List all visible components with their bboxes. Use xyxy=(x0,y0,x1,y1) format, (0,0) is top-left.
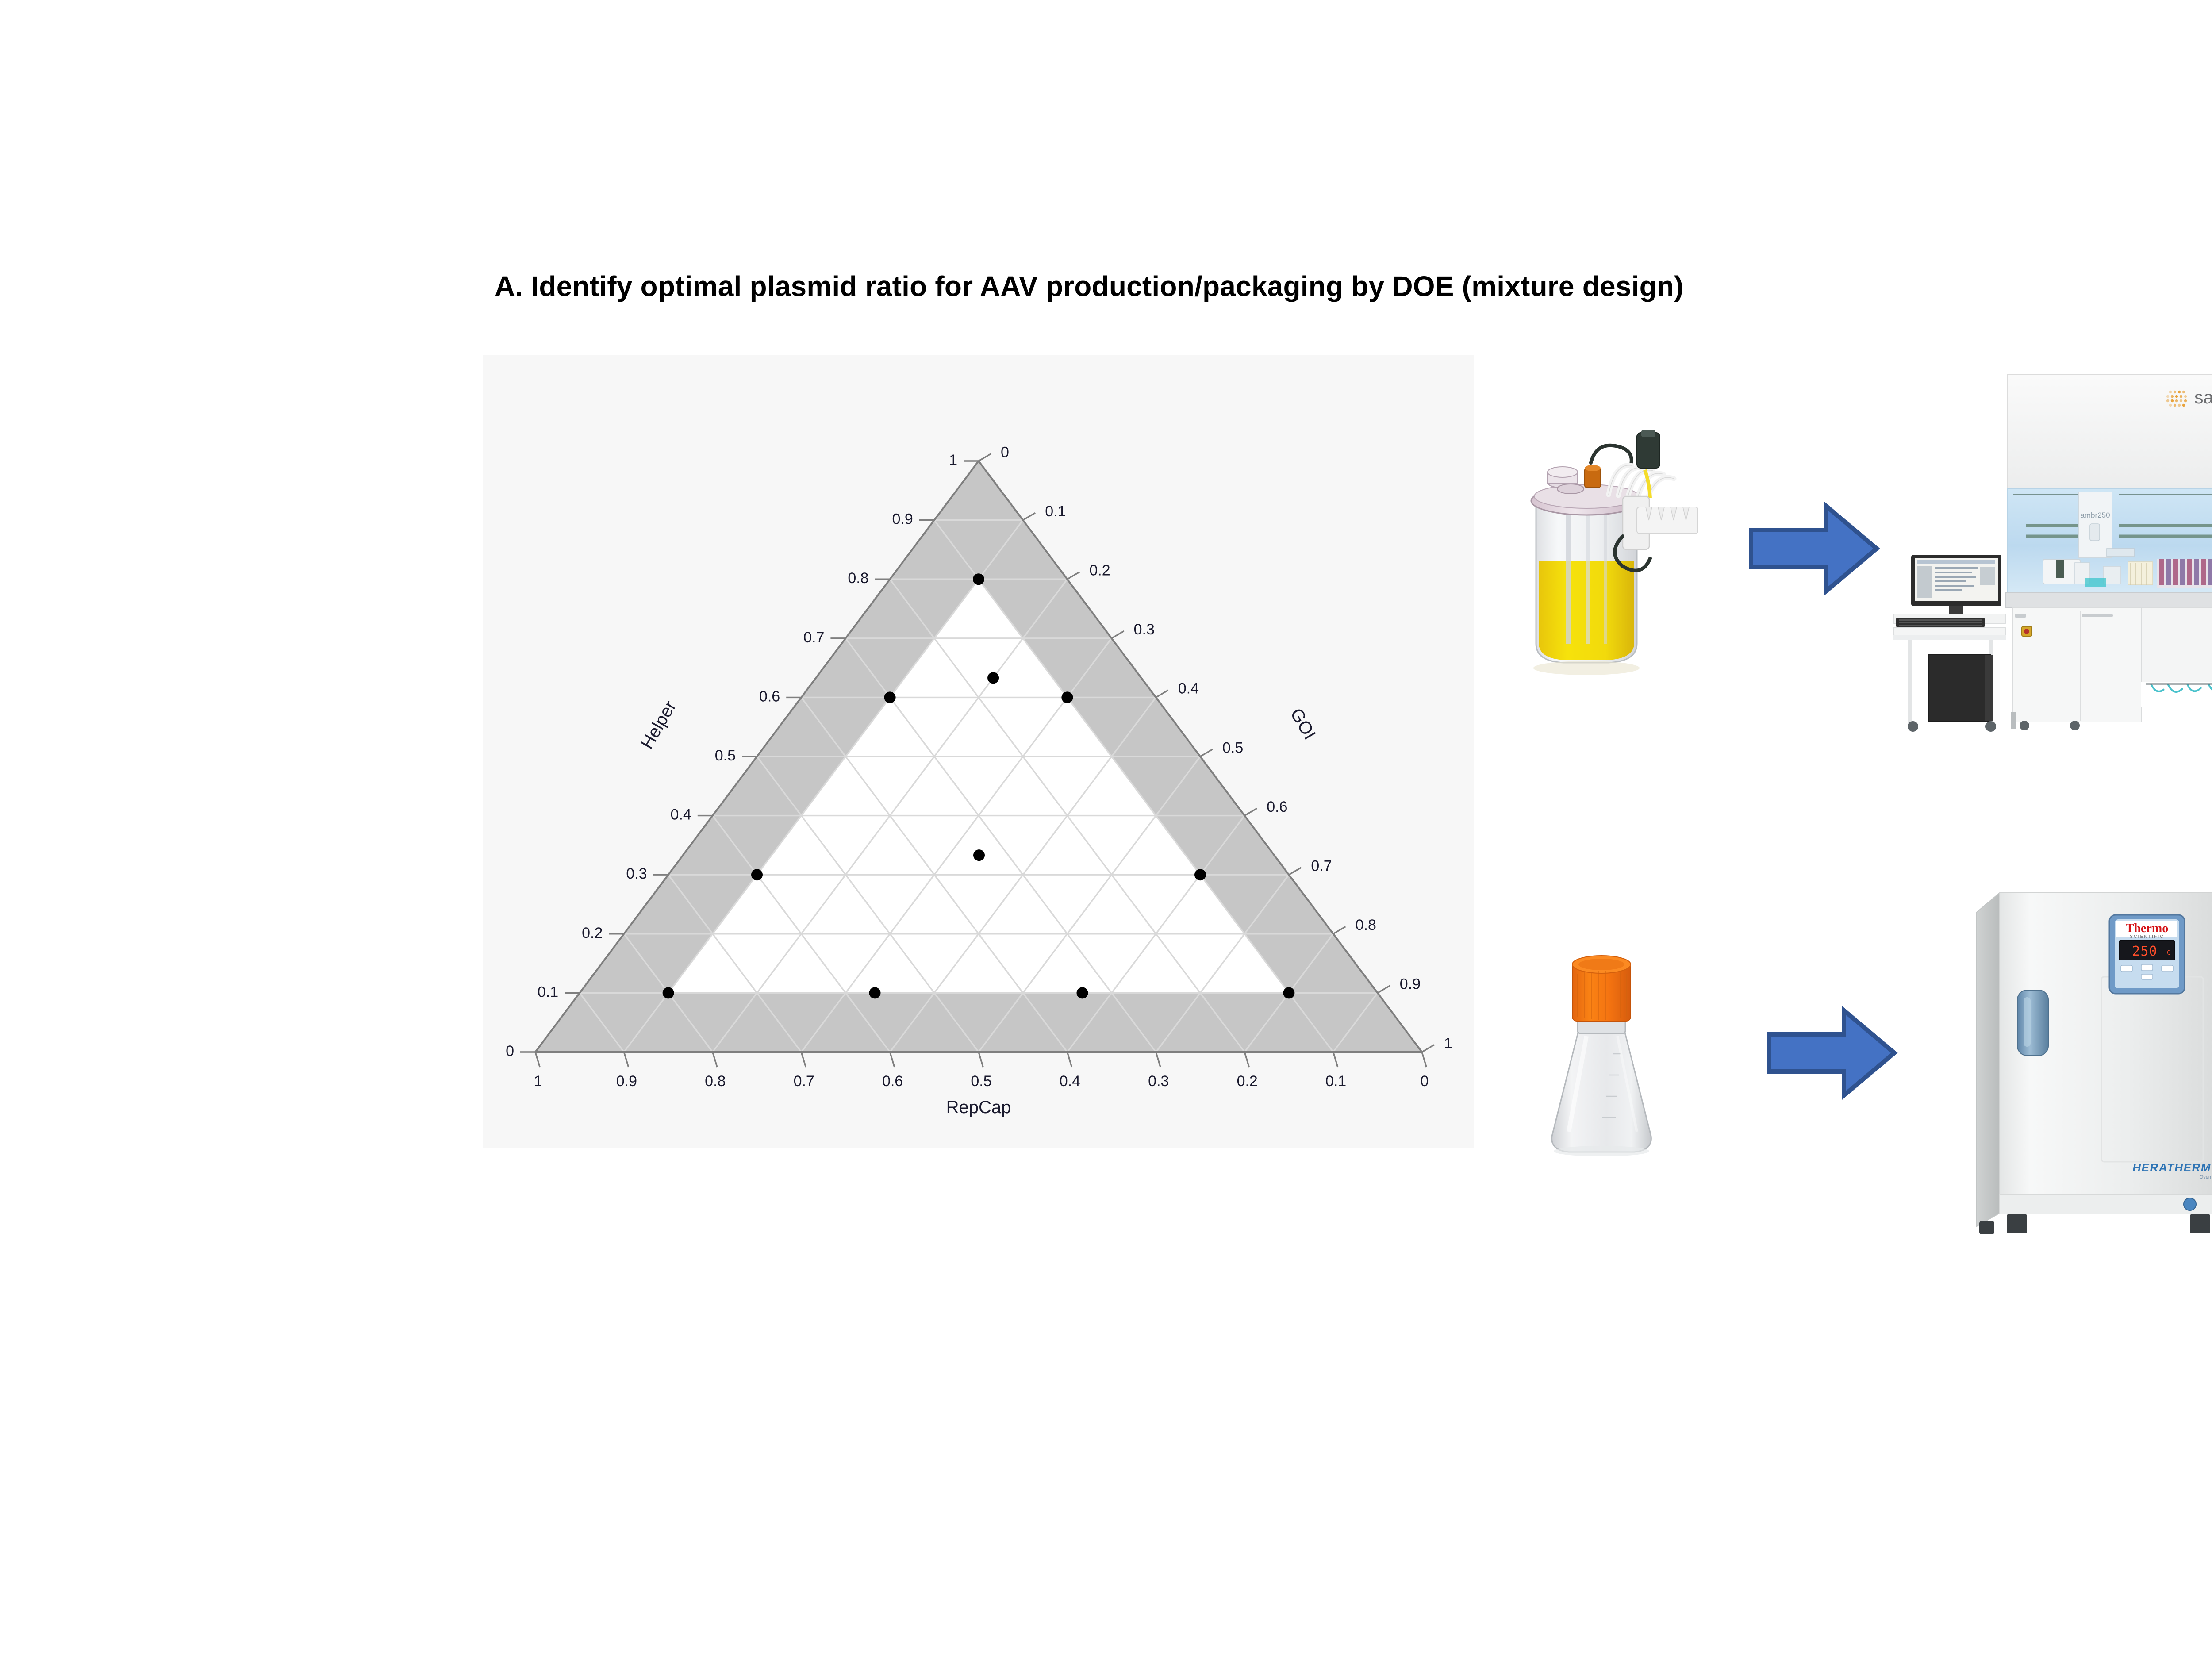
sartorius-ambr-250-system-image: sarto ambr250 xyxy=(1880,372,2212,752)
design-point[interactable] xyxy=(1061,691,1073,703)
design-point[interactable] xyxy=(869,987,881,998)
left-axis-tick-label: 0.6 xyxy=(759,688,780,705)
svg-text:SCIENTIFIC: SCIENTIFIC xyxy=(2130,934,2164,939)
design-point[interactable] xyxy=(1194,869,1206,880)
design-point[interactable] xyxy=(1076,987,1088,998)
left-axis-tick-label: 1 xyxy=(949,452,957,469)
right-axis-tick-label: 0.5 xyxy=(1222,739,1243,756)
thermo-heratherm-incubator-image: Thermo SCIENTIFIC 250 C HERATHERM Oven xyxy=(1969,885,2212,1248)
page-title: A. Identify optimal plasmid ratio for AA… xyxy=(495,270,1684,303)
bottom-axis-tick-label: 1 xyxy=(534,1073,542,1090)
process-arrow-top xyxy=(1747,500,1880,597)
ternary-plot: 10.90.80.70.60.50.40.30.20.10RepCap00.10… xyxy=(483,355,1474,1148)
bottom-axis-tick-label: 0.4 xyxy=(1060,1073,1080,1090)
svg-text:Oven: Oven xyxy=(2200,1175,2211,1180)
bottom-axis-tick-label: 0.1 xyxy=(1325,1073,1346,1090)
right-axis-tick-label: 0 xyxy=(1001,444,1009,461)
bottom-axis-tick-label: 0.6 xyxy=(882,1073,903,1090)
left-axis-title: Helper xyxy=(637,697,680,752)
left-axis-tick-label: 0.9 xyxy=(892,511,913,528)
slide-canvas: A. Identify optimal plasmid ratio for AA… xyxy=(0,0,2212,1659)
bottom-axis-title: RepCap xyxy=(946,1098,1011,1117)
right-axis-tick-label: 0.8 xyxy=(1356,917,1376,933)
bottom-axis-tick-label: 0.7 xyxy=(794,1073,814,1090)
right-axis-title: GOI xyxy=(1286,705,1320,743)
design-point[interactable] xyxy=(973,573,984,585)
design-point[interactable] xyxy=(663,987,674,998)
right-axis-tick-label: 0.4 xyxy=(1178,680,1199,697)
bottom-axis-tick-label: 0.5 xyxy=(971,1073,991,1090)
ternary-plot-panel: 10.90.80.70.60.50.40.30.20.10RepCap00.10… xyxy=(483,355,1474,1148)
left-axis-tick-label: 0.7 xyxy=(803,629,824,646)
design-point[interactable] xyxy=(973,849,985,861)
bottom-axis-tick-label: 0 xyxy=(1421,1073,1429,1090)
erlenmeyer-shake-flask-image xyxy=(1526,898,1677,1164)
process-arrow-bottom xyxy=(1765,1004,1898,1102)
bottom-axis-tick-label: 0.2 xyxy=(1237,1073,1258,1090)
design-point[interactable] xyxy=(884,691,896,703)
svg-text:Thermo: Thermo xyxy=(2126,922,2168,935)
design-point[interactable] xyxy=(751,869,763,880)
svg-text:250: 250 xyxy=(2132,944,2157,959)
left-axis-tick-label: 0.3 xyxy=(626,865,647,882)
left-axis-tick-label: 0.5 xyxy=(715,747,736,764)
svg-text:ambr250: ambr250 xyxy=(2080,511,2110,519)
svg-text:sarto: sarto xyxy=(2194,387,2212,407)
single-use-bioreactor-vessel-image xyxy=(1504,420,1703,721)
right-axis-tick-label: 1 xyxy=(1444,1035,1452,1052)
design-point[interactable] xyxy=(987,672,999,684)
left-axis-tick-label: 0 xyxy=(506,1043,514,1060)
left-axis-tick-label: 0.2 xyxy=(582,925,603,941)
right-axis-tick-label: 0.2 xyxy=(1089,562,1110,579)
design-point[interactable] xyxy=(1283,987,1294,998)
bottom-axis-tick-label: 0.8 xyxy=(705,1073,726,1090)
svg-text:C: C xyxy=(2167,949,2170,956)
left-axis-tick-label: 0.1 xyxy=(538,983,558,1000)
left-axis-tick-label: 0.4 xyxy=(671,806,691,823)
right-axis-tick-label: 0.9 xyxy=(1400,976,1421,993)
right-axis-tick-label: 0.7 xyxy=(1311,858,1332,875)
bottom-axis-tick-label: 0.9 xyxy=(616,1073,637,1090)
bottom-axis-tick-label: 0.3 xyxy=(1148,1073,1169,1090)
right-axis-tick-label: 0.1 xyxy=(1045,503,1066,520)
right-axis-tick-label: 0.6 xyxy=(1267,799,1287,815)
svg-text:HERATHERM: HERATHERM xyxy=(2132,1161,2211,1174)
right-axis-tick-label: 0.3 xyxy=(1134,621,1155,638)
left-axis-tick-label: 0.8 xyxy=(848,570,868,587)
